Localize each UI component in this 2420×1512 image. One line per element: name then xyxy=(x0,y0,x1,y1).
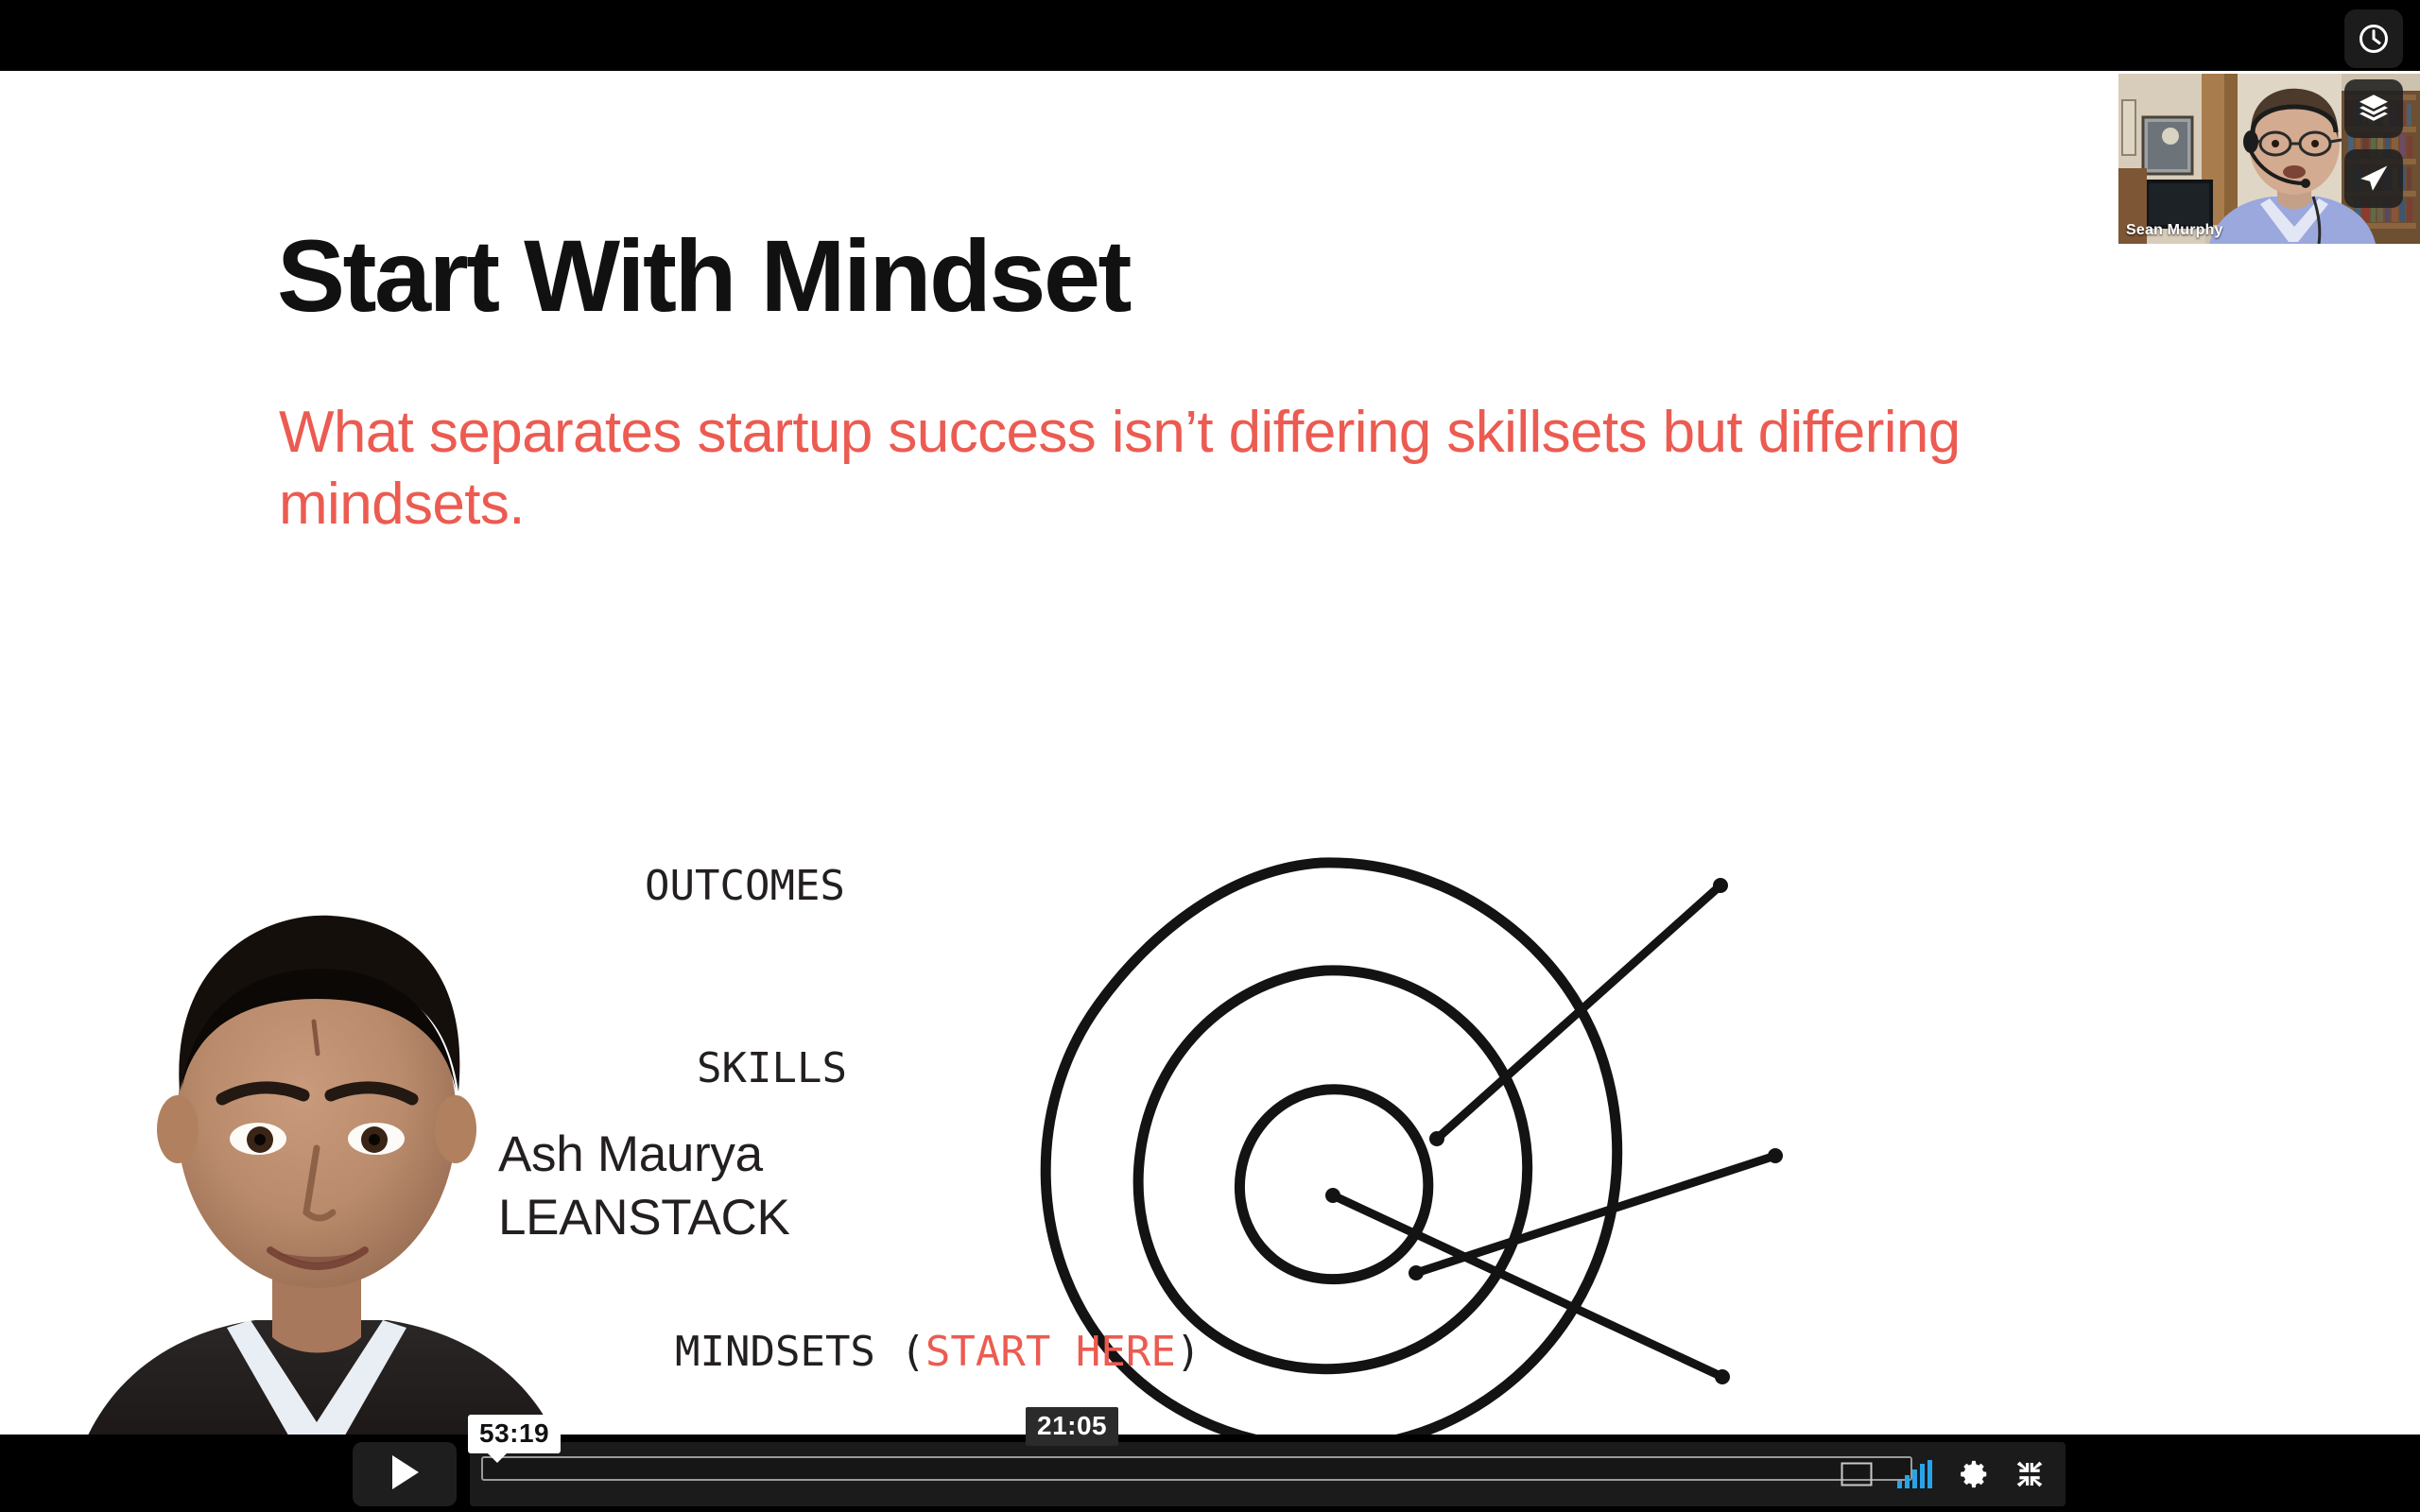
signal-bars-icon[interactable] xyxy=(1897,1460,1933,1488)
clock-icon xyxy=(2357,22,2391,56)
presentation-slide: Start With Mindset What separates startu… xyxy=(0,71,2420,1435)
mindsets-text: MINDSETS ( xyxy=(675,1328,925,1376)
start-here-text: START HERE xyxy=(925,1328,1176,1376)
current-time-tooltip: 53:19 xyxy=(468,1415,561,1453)
speaker-org: LEANSTACK xyxy=(498,1186,790,1249)
play-button[interactable] xyxy=(353,1442,457,1506)
diagram-label-mindsets: MINDSETS (START HERE) xyxy=(675,1328,1201,1376)
hover-time-badge: 21:05 xyxy=(1026,1407,1118,1446)
send-icon xyxy=(2357,162,2391,196)
leader-dot-outcomes xyxy=(1429,1131,1444,1146)
layers-icon xyxy=(2357,92,2391,126)
ring-middle xyxy=(1138,971,1528,1369)
play-icon xyxy=(389,1453,421,1496)
player-right-controls xyxy=(1841,1458,2045,1490)
video-player-stage: Start With Mindset What separates startu… xyxy=(0,0,2420,1512)
video-player-controls: 53:19 21:05 xyxy=(0,1435,2420,1512)
ring-inner xyxy=(1239,1090,1427,1280)
layers-button[interactable] xyxy=(2344,79,2403,138)
scrubber-panel[interactable] xyxy=(470,1442,2066,1506)
progress-track[interactable] xyxy=(481,1456,1912,1481)
screen-icon[interactable] xyxy=(1841,1462,1873,1486)
send-button[interactable] xyxy=(2344,149,2403,208)
diagram-label-outcomes: OUTCOMES xyxy=(645,862,845,910)
slide-title: Start With Mindset xyxy=(277,225,1130,327)
speaker-credit: Ash Maurya LEANSTACK xyxy=(498,1123,790,1250)
slide-subtitle: What separates startup success isn’t dif… xyxy=(279,397,2094,540)
webcam-participant-name: Sean Murphy xyxy=(2126,222,2223,239)
gear-icon[interactable] xyxy=(1958,1458,1990,1490)
floating-icon-rail xyxy=(2344,9,2403,208)
leader-line-outcomes xyxy=(1437,885,1720,1139)
leader-line-mindsets xyxy=(1333,1195,1722,1377)
leader-dot-skills xyxy=(1409,1265,1424,1280)
leader-dot-mindsets xyxy=(1325,1188,1340,1203)
exit-fullscreen-icon[interactable] xyxy=(2014,1459,2045,1489)
mindsets-suffix: ) xyxy=(1176,1328,1201,1376)
speaker-name: Ash Maurya xyxy=(498,1126,763,1182)
concentric-rings-diagram xyxy=(1021,836,2401,1435)
diagram-label-skills: SKILLS xyxy=(697,1044,847,1092)
clock-button[interactable] xyxy=(2344,9,2403,68)
